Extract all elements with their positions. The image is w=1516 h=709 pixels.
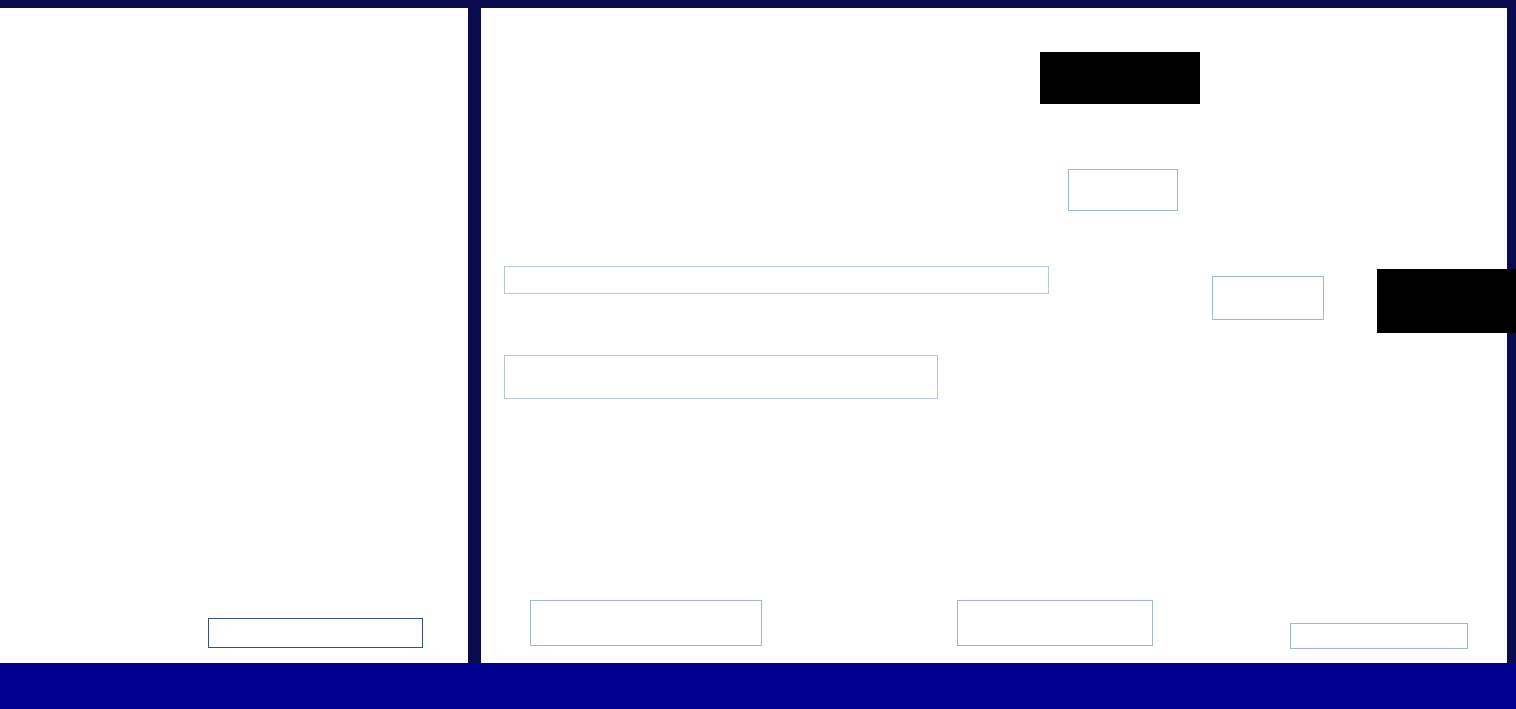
left-panel-graphics	[0, 0, 468, 663]
drug-box-diltiazem-losartan	[1377, 269, 1516, 333]
right-panel-graphics	[481, 0, 1516, 663]
callout-non-myocyte-proliferation	[957, 600, 1153, 646]
effect-bar	[504, 266, 1049, 294]
callout-myocyte-death-fibrosis	[530, 600, 762, 646]
callout-tgf-ca-signals	[1212, 276, 1324, 320]
drug-box-myk-461	[1040, 52, 1200, 104]
slide-root	[0, 0, 1516, 709]
callout-non-myocyte-activation	[1290, 623, 1468, 649]
callout-biomechanical-force	[1068, 169, 1178, 211]
legend-box	[504, 355, 938, 399]
panel-divider	[468, 0, 481, 663]
node-myocardial-ischaemia	[208, 618, 423, 648]
citation-band	[0, 663, 1516, 709]
